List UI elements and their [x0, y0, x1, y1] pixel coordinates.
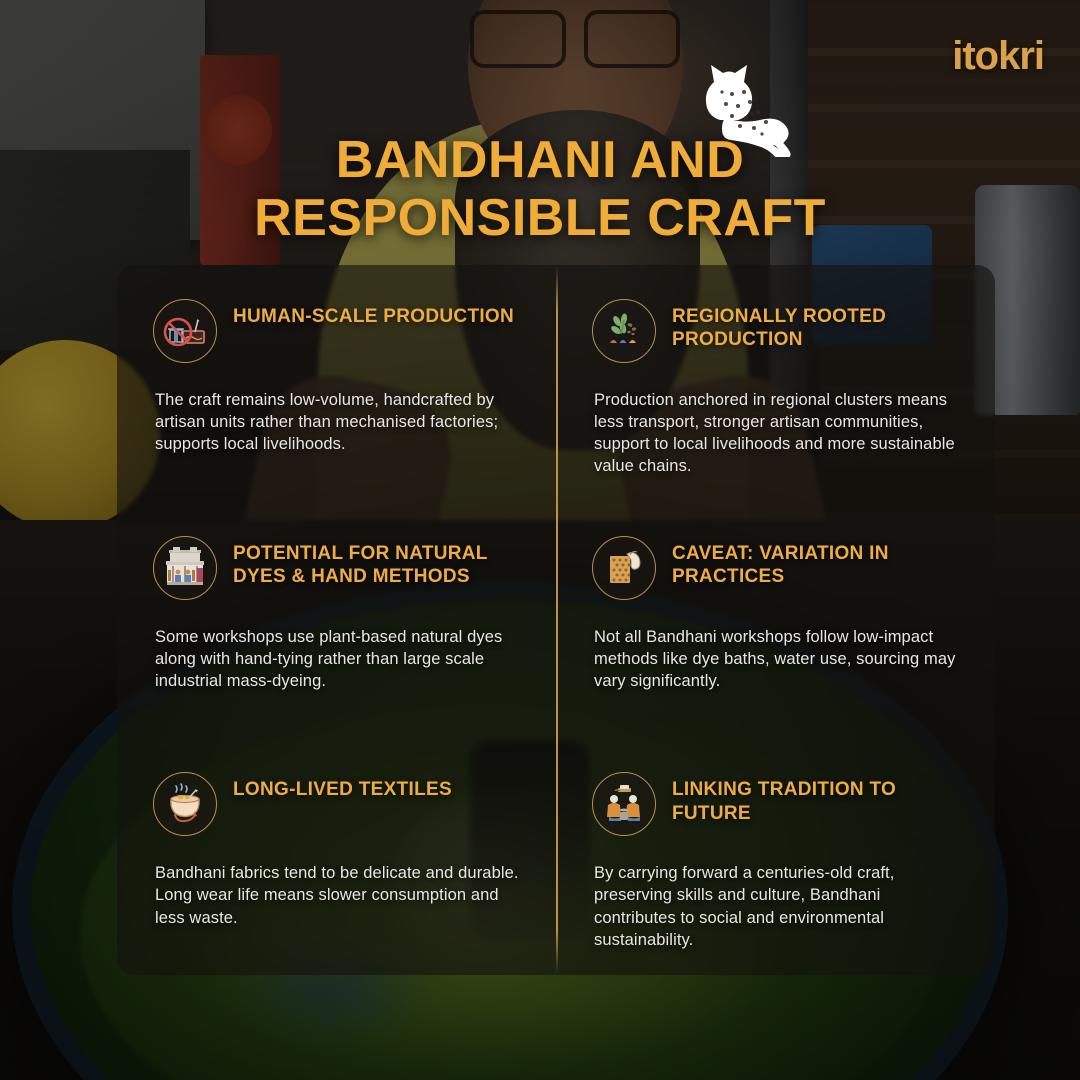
cards-grid: HUMAN-SCALE PRODUCTION The craft remains… — [117, 265, 995, 975]
card-body: Production anchored in regional clusters… — [594, 389, 959, 477]
artisan-workshop-building-icon — [153, 536, 217, 600]
card-title: POTENTIAL FOR NATURAL DYES & HAND METHOD… — [233, 536, 520, 588]
card-regionally-rooted-production: REGIONALLY ROOTED PRODUCTION Production … — [556, 265, 995, 502]
card-title: LINKING TRADITION TO FUTURE — [672, 772, 959, 824]
card-body: Not all Bandhani workshops follow low-im… — [594, 626, 959, 692]
card-header: CAVEAT: VARIATION IN PRACTICES — [592, 536, 959, 600]
infographic-canvas: itokri BANDHANI AND RESPONSIBLE CRAFT — [0, 0, 1080, 1080]
card-title: HUMAN-SCALE PRODUCTION — [233, 299, 514, 328]
card-title: REGIONALLY ROOTED PRODUCTION — [672, 299, 959, 351]
card-body: Some workshops use plant-based natural d… — [155, 626, 520, 692]
card-natural-dyes-hand-methods: POTENTIAL FOR NATURAL DYES & HAND METHOD… — [117, 502, 556, 739]
card-body: The craft remains low-volume, handcrafte… — [155, 389, 520, 455]
card-header: LINKING TRADITION TO FUTURE — [592, 772, 959, 836]
two-artisans-icon — [592, 772, 656, 836]
card-body: Bandhani fabrics tend to be delicate and… — [155, 862, 520, 928]
card-body: By carrying forward a centuries-old craf… — [594, 862, 959, 950]
card-linking-tradition-to-future: LINKING TRADITION TO FUTURE By carrying … — [556, 738, 995, 975]
card-title: LONG-LIVED TEXTILES — [233, 772, 452, 801]
card-caveat-variation-in-practices: CAVEAT: VARIATION IN PRACTICES Not all B… — [556, 502, 995, 739]
leaves-and-dye-powders-icon — [592, 299, 656, 363]
page-title-line-1: BANDHANI AND — [0, 131, 1080, 189]
content-panel: HUMAN-SCALE PRODUCTION The craft remains… — [117, 265, 995, 975]
card-header: HUMAN-SCALE PRODUCTION — [153, 299, 520, 363]
card-header: REGIONALLY ROOTED PRODUCTION — [592, 299, 959, 363]
page-title-line-2: RESPONSIBLE CRAFT — [0, 189, 1080, 247]
dye-pot-icon — [153, 772, 217, 836]
card-header: POTENTIAL FOR NATURAL DYES & HAND METHOD… — [153, 536, 520, 600]
card-header: LONG-LIVED TEXTILES — [153, 772, 520, 836]
page-title: BANDHANI AND RESPONSIBLE CRAFT — [0, 131, 1080, 247]
no-factory-icon — [153, 299, 217, 363]
itokri-logo[interactable]: itokri — [952, 36, 1044, 76]
card-human-scale-production: HUMAN-SCALE PRODUCTION The craft remains… — [117, 265, 556, 502]
cat-illustration-icon — [688, 52, 798, 157]
card-long-lived-textiles: LONG-LIVED TEXTILES Bandhani fabrics ten… — [117, 738, 556, 975]
hand-holding-bandhani-fabric-icon — [592, 536, 656, 600]
card-title: CAVEAT: VARIATION IN PRACTICES — [672, 536, 959, 588]
